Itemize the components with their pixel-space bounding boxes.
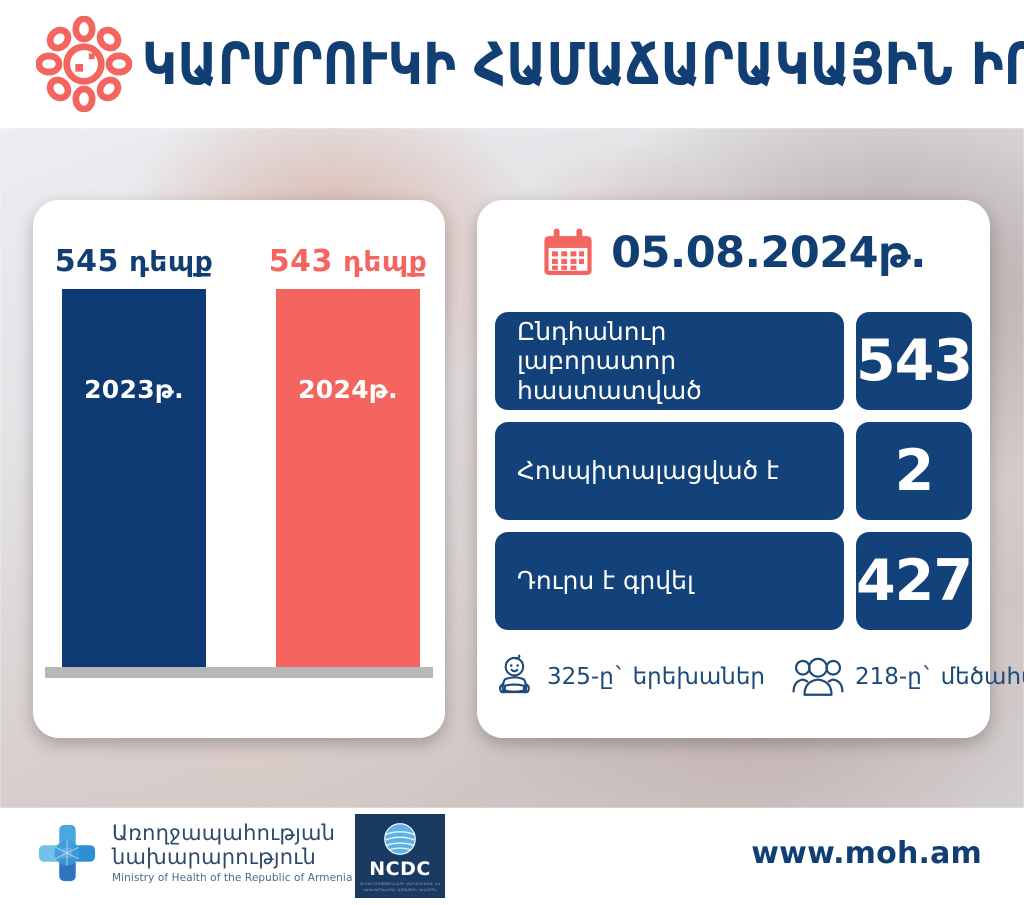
bar-value-2024: 543	[269, 244, 333, 279]
bar-unit-2024: դեպք	[343, 245, 427, 278]
stat-value-discharged: 427	[856, 532, 972, 630]
bar-group-2023: 545 դեպք 2023թ.	[62, 289, 206, 667]
ncdc-wordmark: NCDC	[369, 858, 431, 880]
breakdown-adults-text: 218-ը` մեծահասակ	[855, 664, 1024, 690]
stat-label-confirmed: Ընդհանուր լաբորատոր հաստատված	[495, 312, 844, 410]
ncdc-logo: NCDC ՀԻՎԱՆԴՈՒԹՅՈՒՆՆԵՐԻ ՎԵՐԱՀՍԿՄԱՆ ԵՎ ԿԱՆ…	[355, 814, 445, 898]
website-url[interactable]: www.moh.am	[751, 836, 982, 871]
bar-unit-2023: դեպք	[129, 245, 213, 278]
moh-text-block: Առողջապահության նախարարություն Ministry …	[112, 822, 353, 884]
bar-label-2024: 2024թ.	[298, 375, 398, 404]
bar-2024: 2024թ.	[276, 289, 420, 667]
stat-row-confirmed: Ընդհանուր լաբորատոր հաստատված 543	[495, 312, 972, 410]
date-row: 05.08.2024թ.	[477, 226, 990, 280]
moh-name-en: Ministry of Health of the Republic of Ar…	[112, 872, 353, 884]
stats-card: 05.08.2024թ. Ընդհանուր լաբորատոր հաստատվ…	[477, 200, 990, 738]
bar-value-label-2024: 543 դեպք	[269, 244, 428, 279]
globe-icon	[382, 821, 418, 857]
ncdc-subtitle: ՀԻՎԱՆԴՈՒԹՅՈՒՆՆԵՐԻ ՎԵՐԱՀՍԿՄԱՆ ԵՎ ԿԱՆԽԱՐԳԵ…	[355, 882, 445, 893]
infographic-page: ԿԱՐՄՐՈՒԿԻ ՀԱՄԱՃԱՐԱԿԱՅԻՆ ԻՐԱՎԻՃԱԿ 545 դեպ…	[0, 0, 1024, 905]
bar-value-2023: 545	[55, 244, 119, 279]
virus-icon	[36, 16, 132, 112]
page-title: ԿԱՐՄՐՈՒԿԻ ՀԱՄԱՃԱՐԱԿԱՅԻՆ ԻՐԱՎԻՃԱԿ	[142, 35, 1024, 93]
calendar-icon	[541, 226, 595, 280]
bar-chart: 545 դեպք 2023թ. 543 դեպք 2024թ.	[33, 200, 445, 738]
stat-label-hospitalized: Հոսպիտալացված է	[495, 422, 844, 520]
people-group-icon	[791, 655, 845, 699]
moh-name-hy-line1: Առողջապահության	[112, 822, 353, 846]
stat-label-discharged: Դուրս է գրվել	[495, 532, 844, 630]
bar-label-2023: 2023թ.	[84, 375, 184, 404]
stat-value-confirmed: 543	[856, 312, 972, 410]
moh-cross-icon	[36, 822, 98, 884]
stat-value-hospitalized: 2	[856, 422, 972, 520]
baby-icon	[495, 654, 537, 700]
moh-name-hy-line2: նախարարություն	[112, 846, 353, 870]
breakdown-row: 325-ը` երեխաներ 218-ը` մեծահասակ	[495, 646, 972, 708]
bar-group-2024: 543 դեպք 2024թ.	[276, 289, 420, 667]
moh-logo: Առողջապահության նախարարություն Ministry …	[36, 822, 353, 884]
bar-2023: 2023թ.	[62, 289, 206, 667]
breakdown-children: 325-ը` երեխաներ	[495, 654, 765, 700]
page-header: ԿԱՐՄՐՈՒԿԻ ՀԱՄԱՃԱՐԱԿԱՅԻՆ ԻՐԱՎԻՃԱԿ	[0, 0, 1024, 128]
stat-row-discharged: Դուրս է գրվել 427	[495, 532, 972, 630]
bar-value-label-2023: 545 դեպք	[55, 244, 214, 279]
breakdown-adults: 218-ը` մեծահասակ	[791, 655, 1024, 699]
breakdown-children-text: 325-ը` երեխաներ	[547, 664, 765, 690]
chart-card: 545 դեպք 2023թ. 543 դեպք 2024թ.	[33, 200, 445, 738]
report-date: 05.08.2024թ.	[611, 228, 926, 278]
chart-baseline	[45, 667, 433, 678]
stat-row-hospitalized: Հոսպիտալացված է 2	[495, 422, 972, 520]
